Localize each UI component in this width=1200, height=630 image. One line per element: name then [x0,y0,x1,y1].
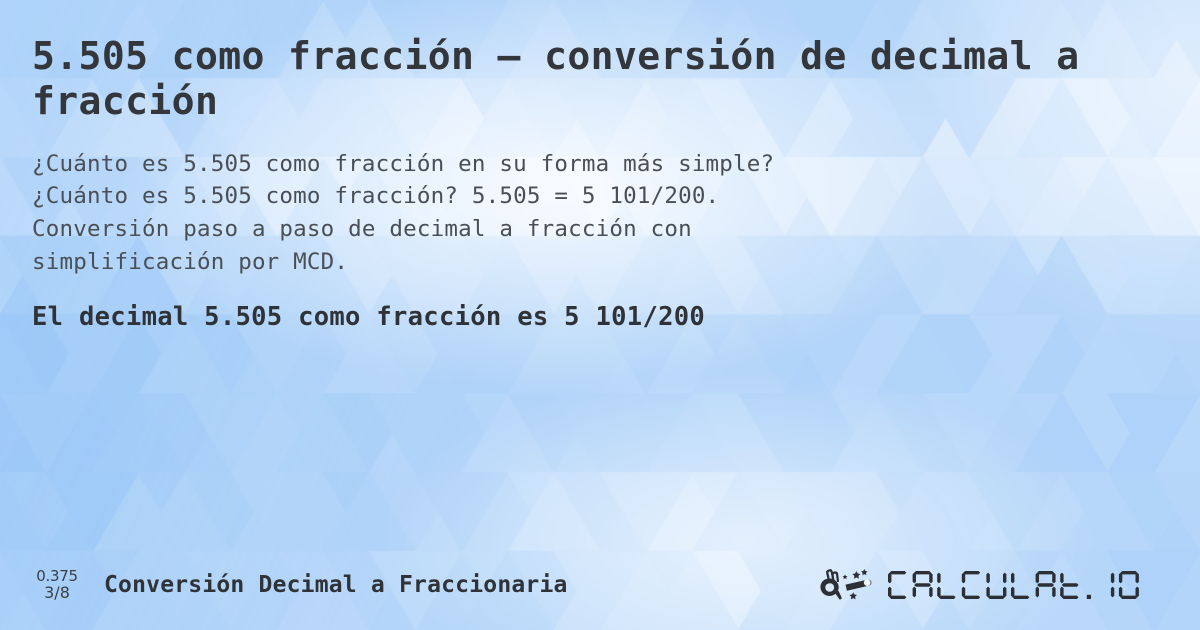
site-logo[interactable]: CALCULAT.IO [820,565,1174,605]
answer-statement: El decimal 5.505 como fracción es 5 101/… [32,302,1168,332]
description-line-3: Conversión paso a paso de decimal a frac… [32,213,1092,246]
description-line-4: simplificación por MCD. [32,246,1092,279]
footer-section-title: Conversión Decimal a Fraccionaria [104,572,568,598]
footer-section-brand[interactable]: 0.375 3/8 Conversión Decimal a Fracciona… [26,568,568,601]
decimal-to-fraction-logo-icon: 0.375 3/8 [26,568,88,601]
page-content: 5.505 como fracción – conversión de deci… [0,0,1200,630]
description-line-2: ¿Cuánto es 5.505 como fracción? 5.505 = … [32,180,1092,213]
logo-fraction-value: 3/8 [44,584,70,601]
magic-wand-hand-icon [820,565,882,605]
page-description: ¿Cuánto es 5.505 como fracción en su for… [32,148,1092,279]
footer: 0.375 3/8 Conversión Decimal a Fracciona… [0,540,1200,630]
description-line-1: ¿Cuánto es 5.505 como fracción en su for… [32,148,1092,181]
page-title: 5.505 como fracción – conversión de deci… [32,34,1152,124]
calculatio-wordmark: CALCULAT.IO [886,565,1168,605]
logo-decimal-value: 0.375 [36,568,77,584]
